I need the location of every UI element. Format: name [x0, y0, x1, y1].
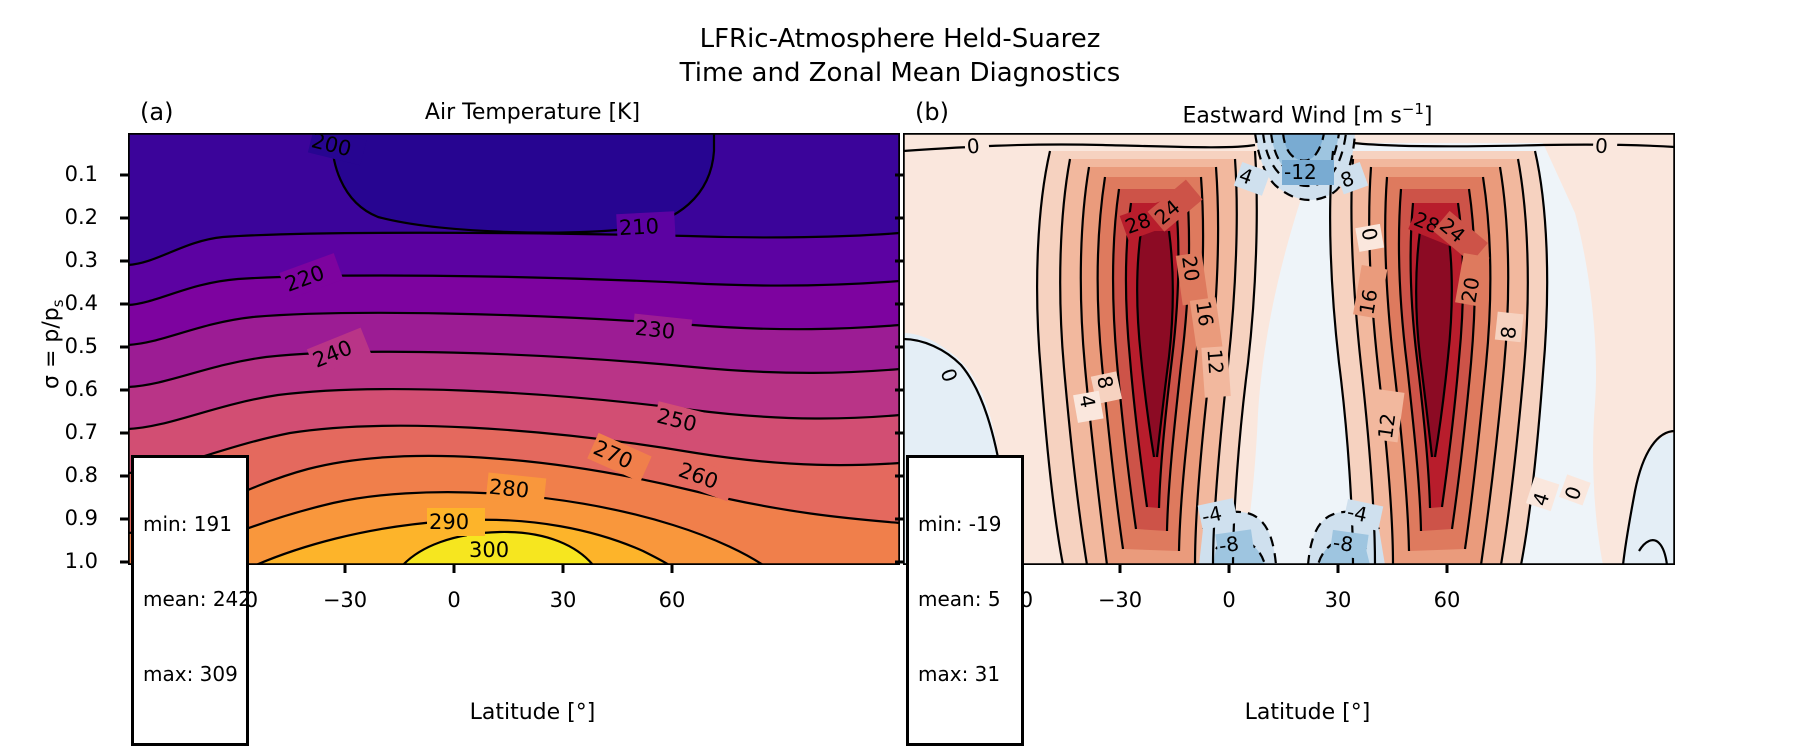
panel-a-ytick-5: 0.6	[20, 377, 98, 401]
svg-text:210: 210	[618, 214, 659, 240]
panel-b-stats-box: min: -19 mean: 5 max: 31	[906, 455, 1024, 746]
panel-a-ytick-1: 0.2	[20, 205, 98, 229]
svg-text:-8: -8	[1332, 530, 1355, 557]
svg-text:290: 290	[429, 510, 469, 534]
panel-a-ytick-9: 1.0	[20, 549, 98, 573]
panel-a-stat-min: min: 191	[143, 512, 237, 537]
svg-text:-8: -8	[1217, 531, 1240, 558]
panel-a-stat-max: max: 309	[143, 662, 237, 687]
panel-b-xtick-2: 0	[1183, 588, 1275, 612]
panel-a-stat-mean: mean: 242	[143, 587, 237, 612]
svg-text:20: 20	[1456, 275, 1484, 304]
svg-text:230: 230	[634, 316, 676, 344]
svg-text:16: 16	[1354, 287, 1382, 316]
panel-b-stat-min: min: -19	[918, 512, 1012, 537]
figure-suptitle-line2: Time and Zonal Mean Diagnostics	[0, 56, 1800, 90]
panel-a-ytick-7: 0.8	[20, 463, 98, 487]
panel-a-ytick-3: 0.4	[20, 291, 98, 315]
panel-b-xtick-1: −30	[1074, 588, 1166, 612]
svg-text:12: 12	[1373, 412, 1400, 441]
panel-b-title-tail: ]	[1424, 103, 1433, 128]
figure-suptitle-line1: LFRic-Atmosphere Held-Suarez	[0, 22, 1800, 56]
svg-text:8: 8	[1496, 325, 1521, 340]
panel-a-ytick-4: 0.5	[20, 334, 98, 358]
panel-a-ytick-6: 0.7	[20, 420, 98, 444]
panel-a-xtick-2: 0	[408, 588, 500, 612]
svg-text:12: 12	[1202, 348, 1228, 375]
svg-text:0: 0	[1594, 133, 1608, 158]
panel-a-stats-box: min: 191 mean: 242 max: 309	[131, 455, 249, 746]
svg-text:300: 300	[469, 538, 509, 562]
panel-a-xtick-3: 30	[517, 588, 609, 612]
svg-text:-12: -12	[1284, 160, 1317, 184]
panel-b-xtick-3: 30	[1292, 588, 1384, 612]
panel-a-xtick-1: −30	[299, 588, 391, 612]
panel-b-title-exponent: −1	[1402, 100, 1424, 118]
svg-text:280: 280	[488, 475, 530, 503]
svg-text:0: 0	[966, 134, 981, 159]
panel-a-xtick-4: 60	[626, 588, 718, 612]
panel-b-xlabel: Latitude [°]	[930, 700, 1685, 725]
panel-b-title: Eastward Wind [m s−1]	[930, 100, 1685, 128]
panel-a-xlabel: Latitude [°]	[155, 700, 910, 725]
panel-b-title-text: Eastward Wind [m s	[1183, 103, 1402, 128]
panel-a-ytick-0: 0.1	[20, 162, 98, 186]
panel-a-ytick-8: 0.9	[20, 506, 98, 530]
figure-canvas: LFRic-Atmosphere Held-Suarez Time and Zo…	[0, 0, 1800, 750]
svg-text:16: 16	[1191, 299, 1218, 328]
panel-a-title: Air Temperature [K]	[155, 100, 910, 125]
panel-a-ytick-2: 0.3	[20, 248, 98, 272]
panel-b-stat-mean: mean: 5	[918, 587, 1012, 612]
svg-text:20: 20	[1177, 254, 1204, 283]
panel-b-xtick-4: 60	[1401, 588, 1493, 612]
panel-b-stat-max: max: 31	[918, 662, 1012, 687]
